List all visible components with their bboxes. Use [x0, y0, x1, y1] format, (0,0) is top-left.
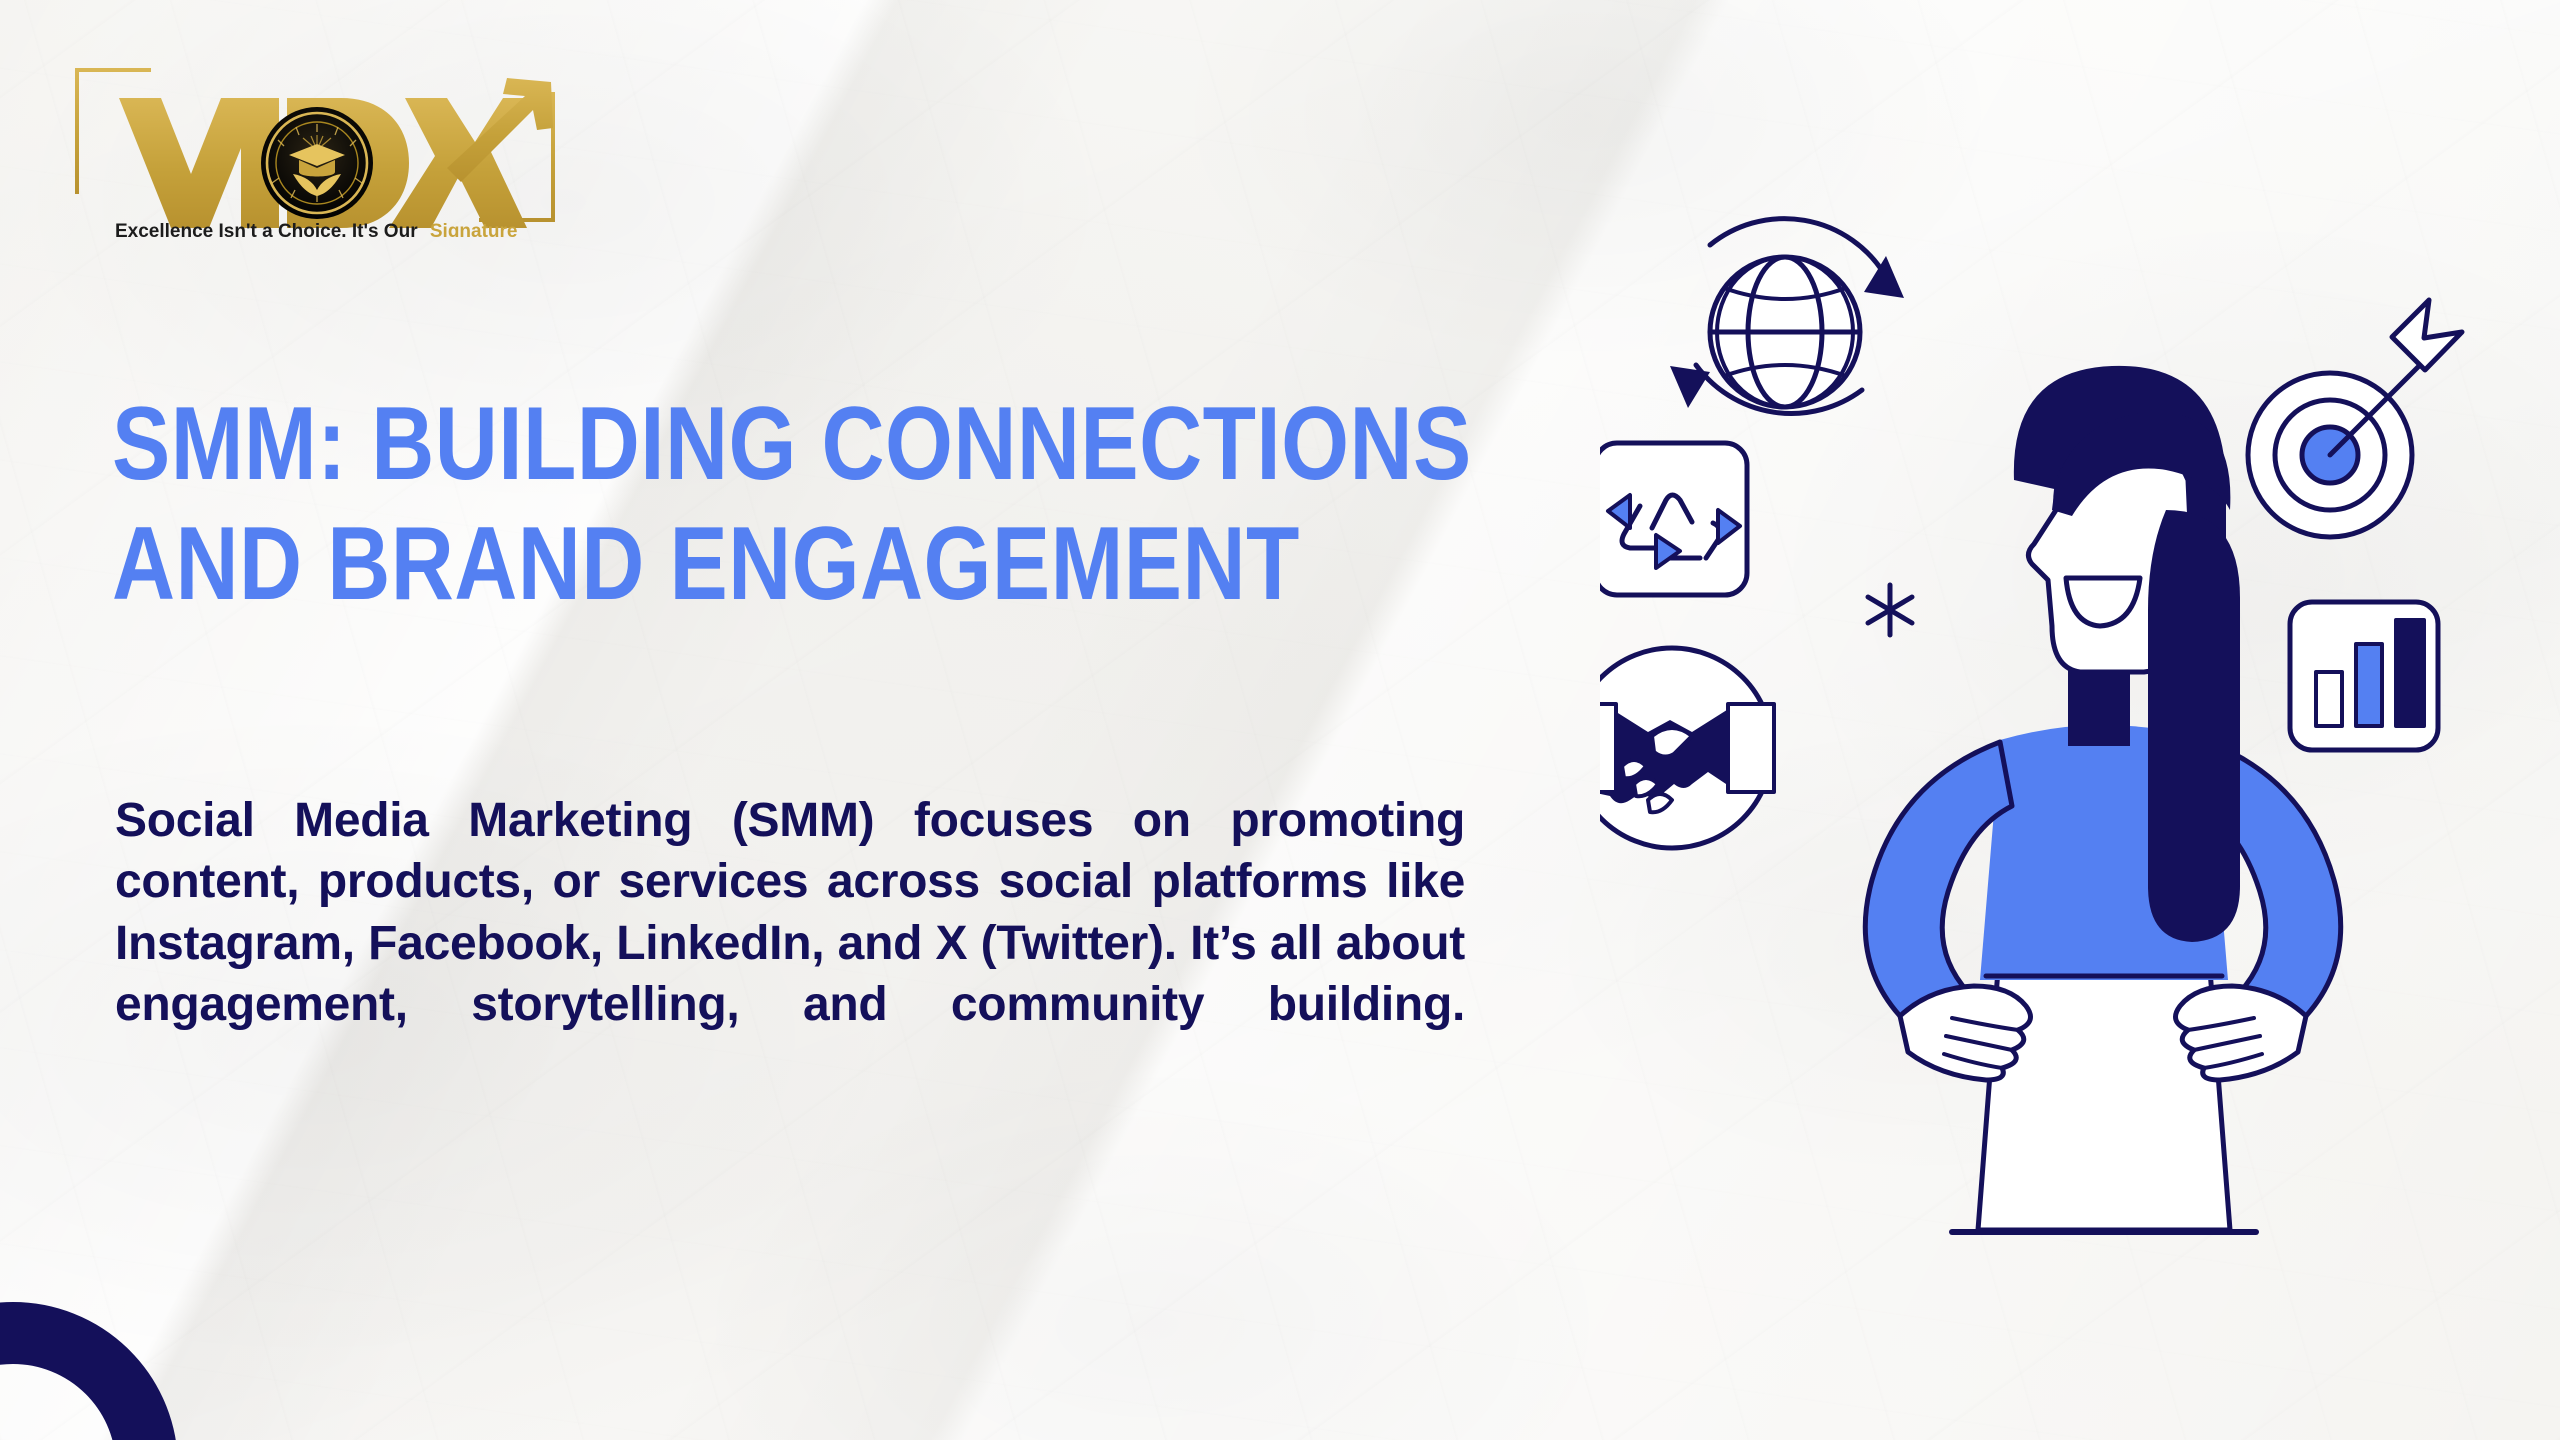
target-dart-icon — [2248, 300, 2462, 537]
bar-1 — [2316, 672, 2342, 726]
handshake-icon — [1600, 648, 1774, 848]
graduation-cap-seal-icon — [261, 107, 373, 219]
recycle-arrows-icon — [1600, 443, 1747, 595]
headline-line-1: SMM: BUILDING CONNECTIONS — [112, 385, 1204, 505]
sparkle-asterisk-icon — [1868, 585, 1912, 635]
bar-3 — [2396, 620, 2424, 726]
bar-chart-icon — [2290, 602, 2438, 750]
globe-rotation-icon — [1670, 219, 1904, 414]
logo-letter-v — [119, 98, 261, 228]
bar-2 — [2356, 644, 2382, 726]
headline-line-2: AND BRAND ENGAGEMENT — [112, 505, 1204, 625]
illustration-group — [1600, 180, 2500, 1320]
body-paragraph: Social Media Marketing (SMM) focuses on … — [115, 790, 1465, 1097]
decorative-corner-ring — [0, 1302, 178, 1440]
logo-tagline: Excellence Isn't a Choice. It's Our Sign… — [115, 221, 518, 237]
tagline-accent: Signature — [430, 221, 518, 237]
tagline-plain: Excellence Isn't a Choice. It's Our — [115, 221, 418, 237]
page-title: SMM: BUILDING CONNECTIONS AND BRAND ENGA… — [112, 385, 1204, 624]
brand-logo: Excellence Isn't a Choice. It's Our Sign… — [55, 52, 575, 237]
